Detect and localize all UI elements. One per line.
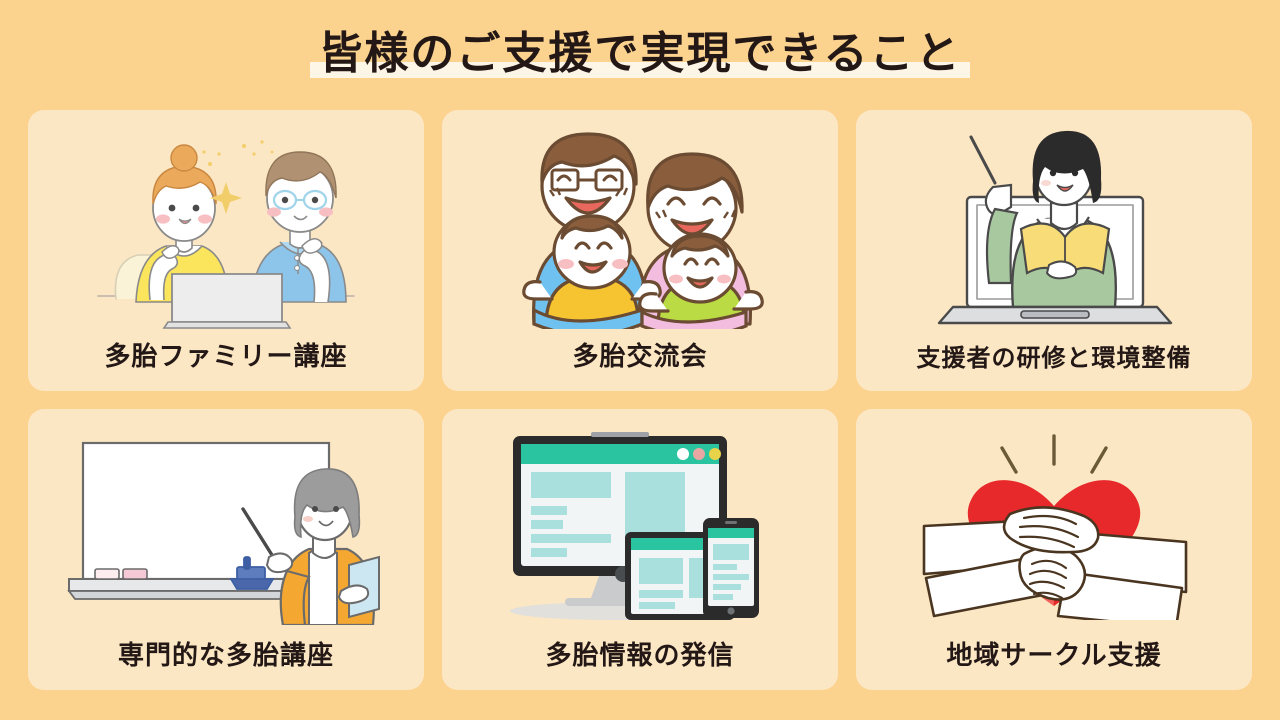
hands-over-heart-icon — [914, 430, 1194, 620]
card-label: 多胎ファミリー講座 — [104, 336, 347, 391]
card-label: 地域サークル支援 — [946, 635, 1161, 690]
card-illustration-area — [28, 110, 424, 336]
card-illustration-area — [442, 409, 838, 635]
card-label: 専門的な多胎講座 — [118, 635, 334, 690]
responsive-devices-icon — [495, 428, 785, 623]
card-tatai-kouryukai[interactable]: 多胎交流会 — [442, 110, 838, 391]
card-illustration-area — [28, 409, 424, 635]
card-label: 支援者の研修と環境整備 — [917, 338, 1192, 391]
card-senmonteki-tatai-kouza[interactable]: 専門的な多胎講座 — [28, 409, 424, 690]
family-with-twin-babies-icon — [500, 124, 780, 329]
page-title-text: 皆様のご支援で実現できること — [318, 28, 961, 81]
card-tatai-joho-hasshin[interactable]: 多胎情報の発信 — [442, 409, 838, 690]
card-illustration-area — [856, 110, 1252, 338]
online-teacher-laptop-icon — [909, 125, 1199, 330]
support-cards-grid: 多胎ファミリー講座 — [28, 110, 1252, 690]
card-tatai-family-kouza[interactable]: 多胎ファミリー講座 — [28, 110, 424, 391]
couple-at-laptop-icon — [76, 124, 376, 329]
page-title: 皆様のご支援で実現できること — [0, 18, 1280, 90]
card-shiensha-kenshu[interactable]: 支援者の研修と環境整備 — [856, 110, 1252, 391]
card-illustration-area — [856, 409, 1252, 635]
card-label: 多胎交流会 — [572, 336, 707, 391]
whiteboard-lecturer-icon — [61, 425, 391, 625]
card-chiiki-circle-shien[interactable]: 地域サークル支援 — [856, 409, 1252, 690]
card-illustration-area — [442, 110, 838, 336]
slide-root: 皆様のご支援で実現できること — [0, 0, 1280, 720]
card-label: 多胎情報の発信 — [545, 635, 734, 690]
